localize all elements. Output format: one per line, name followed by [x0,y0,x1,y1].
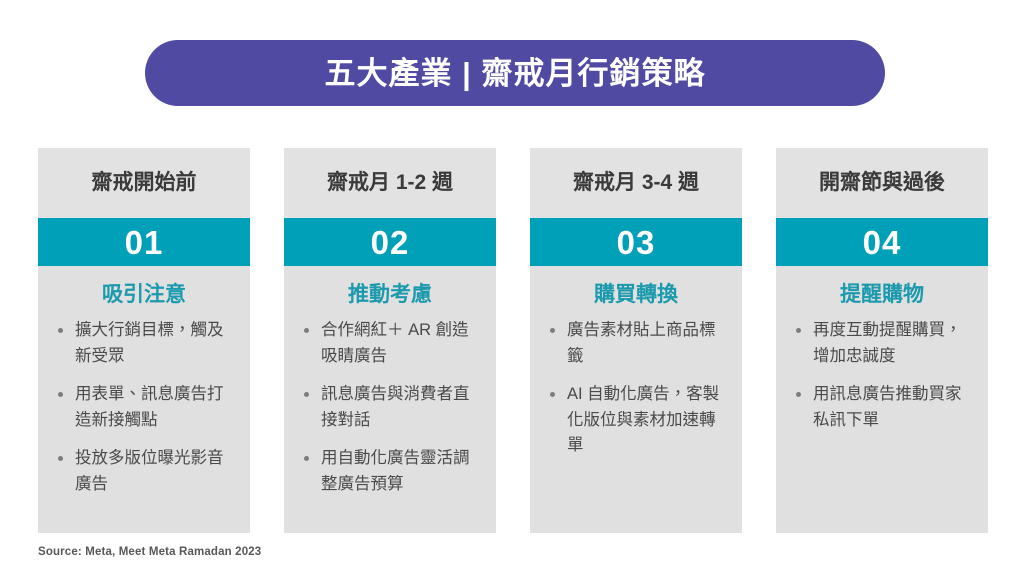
list-item: 擴大行銷目標，觸及新受眾 [58,318,236,369]
bullet-dot-icon [796,328,801,333]
list-item: 投放多版位曝光影音廣告 [58,446,236,497]
phase-card-header: 齋戒月 1-2 週 [284,148,496,218]
phase-number-band: 03 [530,218,742,266]
bullet-text: 用訊息廣告推動買家私訊下單 [813,385,962,429]
phase-cards-row: 齋戒開始前 01 吸引注意 擴大行銷目標，觸及新受眾 用表單、訊息廣告打造新接觸… [38,148,988,533]
page-title: 五大產業 | 齋戒月行銷策略 [325,58,706,89]
list-item: 用訊息廣告推動買家私訊下單 [796,382,974,433]
phase-number-band: 04 [776,218,988,266]
bullet-text: 合作網紅＋ AR 創造吸睛廣告 [321,321,469,365]
bullet-dot-icon [796,392,801,397]
phase-subtitle: 吸引注意 [38,266,250,312]
phase-card-02: 齋戒月 1-2 週 02 推動考慮 合作網紅＋ AR 創造吸睛廣告 訊息廣告與消… [284,148,496,533]
phase-subtitle: 推動考慮 [284,266,496,312]
list-item: 用表單、訊息廣告打造新接觸點 [58,382,236,433]
bullet-dot-icon [304,328,309,333]
phase-subtitle-label: 推動考慮 [348,283,432,306]
phase-bullet-list: 擴大行銷目標，觸及新受眾 用表單、訊息廣告打造新接觸點 投放多版位曝光影音廣告 [38,312,250,507]
phase-number-band: 02 [284,218,496,266]
phase-header-label: 齋戒開始前 [92,171,197,194]
phase-bullet-list: 合作網紅＋ AR 創造吸睛廣告 訊息廣告與消費者直接對話 用自動化廣告靈活調整廣… [284,312,496,507]
phase-subtitle: 提醒購物 [776,266,988,312]
list-item: 廣告素材貼上商品標籤 [550,318,728,369]
list-item: 訊息廣告與消費者直接對話 [304,382,482,433]
list-item: 合作網紅＋ AR 創造吸睛廣告 [304,318,482,369]
bullet-text: 用自動化廣告靈活調整廣告預算 [321,449,470,493]
bullet-text: 廣告素材貼上商品標籤 [567,321,716,365]
bullet-text: 擴大行銷目標，觸及新受眾 [75,321,224,365]
phase-card-header: 齋戒月 3-4 週 [530,148,742,218]
bullet-dot-icon [58,456,63,461]
bullet-dot-icon [58,392,63,397]
phase-number-label: 01 [125,226,164,259]
bullet-dot-icon [550,328,555,333]
phase-card-04: 開齋節與過後 04 提醒購物 再度互動提醒購買，增加忠誠度 用訊息廣告推動買家私… [776,148,988,533]
bullet-text: 用表單、訊息廣告打造新接觸點 [75,385,224,429]
phase-bullet-list: 廣告素材貼上商品標籤 AI 自動化廣告，客製化版位與素材加速轉單 [530,312,742,469]
bullet-text: AI 自動化廣告，客製化版位與素材加速轉單 [567,385,719,454]
phase-subtitle-label: 吸引注意 [102,283,186,306]
bullet-text: 再度互動提醒購買，增加忠誠度 [813,321,962,365]
phase-number-label: 04 [863,226,902,259]
phase-header-label: 齋戒月 1-2 週 [327,171,453,194]
phase-card-header: 開齋節與過後 [776,148,988,218]
list-item: 再度互動提醒購買，增加忠誠度 [796,318,974,369]
phase-card-03: 齋戒月 3-4 週 03 購買轉換 廣告素材貼上商品標籤 AI 自動化廣告，客製… [530,148,742,533]
list-item: 用自動化廣告靈活調整廣告預算 [304,446,482,497]
phase-number-label: 02 [371,226,410,259]
bullet-text: 訊息廣告與消費者直接對話 [321,385,470,429]
phase-number-band: 01 [38,218,250,266]
phase-subtitle-label: 購買轉換 [594,283,678,306]
phase-card-header: 齋戒開始前 [38,148,250,218]
bullet-dot-icon [304,456,309,461]
list-item: AI 自動化廣告，客製化版位與素材加速轉單 [550,382,728,459]
phase-bullet-list: 再度互動提醒購買，增加忠誠度 用訊息廣告推動買家私訊下單 [776,312,988,443]
bullet-dot-icon [304,392,309,397]
source-note: Source: Meta, Meet Meta Ramadan 2023 [38,546,261,560]
bullet-dot-icon [58,328,63,333]
phase-number-label: 03 [617,226,656,259]
phase-header-label: 開齋節與過後 [819,171,945,194]
phase-subtitle-label: 提醒購物 [840,283,924,306]
phase-subtitle: 購買轉換 [530,266,742,312]
bullet-dot-icon [550,392,555,397]
slide-title-banner: 五大產業 | 齋戒月行銷策略 [145,40,885,106]
phase-header-label: 齋戒月 3-4 週 [573,171,699,194]
bullet-text: 投放多版位曝光影音廣告 [75,449,224,493]
phase-card-01: 齋戒開始前 01 吸引注意 擴大行銷目標，觸及新受眾 用表單、訊息廣告打造新接觸… [38,148,250,533]
